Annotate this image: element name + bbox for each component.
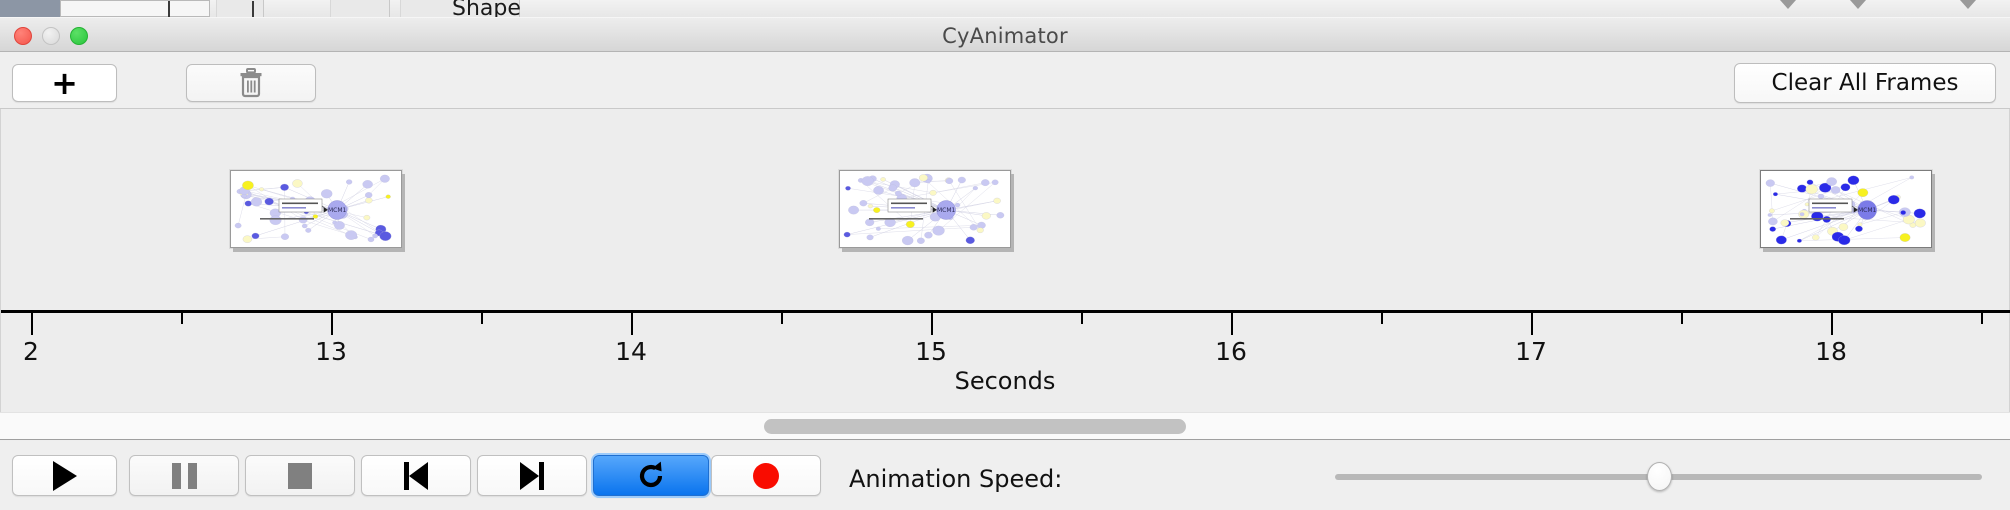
title-bar[interactable]: CyAnimator xyxy=(0,17,2010,52)
tick-label: 2 xyxy=(23,337,39,366)
timeline-axis-title: Seconds xyxy=(1,367,2009,395)
tick-major xyxy=(331,313,333,335)
stop-icon xyxy=(288,463,312,489)
skip-previous-icon xyxy=(404,462,428,490)
background-chip xyxy=(216,0,264,17)
tick-minor xyxy=(481,313,483,324)
record-button[interactable] xyxy=(711,455,821,496)
network-graph-preview: MCM1 xyxy=(1763,173,1931,247)
svg-text:MCM1: MCM1 xyxy=(937,207,956,214)
svg-text:MCM1: MCM1 xyxy=(1858,207,1877,214)
tick-minor xyxy=(1081,313,1083,324)
background-triangle-icon xyxy=(1850,0,1866,9)
play-icon xyxy=(53,461,77,491)
tick-label: 14 xyxy=(615,337,647,366)
tick-label: 16 xyxy=(1215,337,1247,366)
svg-text:MCM1: MCM1 xyxy=(328,207,347,214)
tick-major xyxy=(931,313,933,335)
background-tick xyxy=(168,1,170,17)
delete-frame-button[interactable] xyxy=(186,64,316,102)
background-triangle-icon xyxy=(1780,0,1796,9)
stop-button[interactable] xyxy=(245,455,355,496)
background-triangle-icon xyxy=(1960,0,1976,9)
play-button[interactable] xyxy=(12,455,117,496)
tick-minor xyxy=(181,313,183,324)
frame-thumbnail-2[interactable]: MCM1 xyxy=(839,170,1011,248)
scrollbar-thumb[interactable] xyxy=(764,419,1186,434)
pause-button[interactable] xyxy=(129,455,239,496)
tick-label: 13 xyxy=(315,337,347,366)
plus-icon: + xyxy=(51,67,78,99)
background-tick xyxy=(252,1,254,17)
tick-major xyxy=(631,313,633,335)
background-shape-label: Shape xyxy=(452,0,521,17)
loop-button[interactable] xyxy=(593,455,709,496)
skip-next-icon xyxy=(520,462,544,490)
animation-speed-thumb[interactable] xyxy=(1647,462,1672,491)
cyanimator-window: Shape CyAnimator + Clear xyxy=(0,0,2010,510)
skip-end-button[interactable] xyxy=(477,455,587,496)
window-title: CyAnimator xyxy=(0,24,2010,48)
tick-minor xyxy=(1981,313,1983,324)
animation-speed-label: Animation Speed: xyxy=(849,465,1062,493)
tick-label: 15 xyxy=(915,337,947,366)
clear-all-frames-label: Clear All Frames xyxy=(1772,70,1959,96)
tick-minor xyxy=(1381,313,1383,324)
playback-bar: Animation Speed: xyxy=(0,441,2010,510)
network-graph-preview: MCM1 xyxy=(233,173,401,247)
loop-icon xyxy=(635,460,667,492)
timeline-scrollbar[interactable] xyxy=(0,412,2010,440)
tick-label: 18 xyxy=(1815,337,1847,366)
frame-thumbnail-3[interactable]: MCM1 xyxy=(1760,170,1932,248)
tick-major xyxy=(1231,313,1233,335)
timeline-panel[interactable]: MCM1MCM1MCM1 2131415161718 Seconds xyxy=(0,109,2010,412)
background-window-strip: Shape xyxy=(0,0,2010,17)
tick-major xyxy=(1531,313,1533,335)
tick-minor xyxy=(1681,313,1683,324)
trash-icon xyxy=(238,68,264,98)
tick-minor xyxy=(781,313,783,324)
toolbar: + Clear All Frames xyxy=(0,52,2010,109)
background-chip xyxy=(330,0,390,17)
pause-icon xyxy=(172,463,197,489)
skip-start-button[interactable] xyxy=(361,455,471,496)
background-chip-dark xyxy=(0,0,60,17)
tick-major xyxy=(1831,313,1833,335)
add-frame-button[interactable]: + xyxy=(12,64,117,102)
tick-label: 17 xyxy=(1515,337,1547,366)
record-icon xyxy=(753,463,779,489)
network-graph-preview: MCM1 xyxy=(842,173,1010,247)
frame-thumbnail-1[interactable]: MCM1 xyxy=(230,170,402,248)
background-chip-panel xyxy=(60,0,210,17)
clear-all-frames-button[interactable]: Clear All Frames xyxy=(1734,63,1996,103)
timeline-axis xyxy=(1,310,2010,313)
tick-major xyxy=(31,313,33,335)
